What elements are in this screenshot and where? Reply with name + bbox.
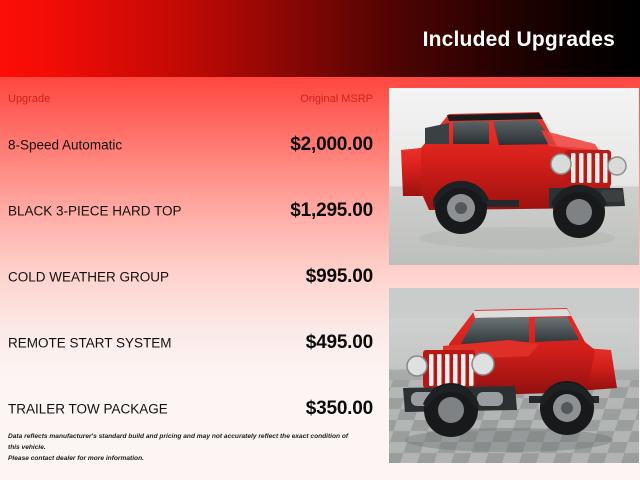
disclaimer-line-2: Please contact dealer for more informati…	[8, 454, 358, 465]
vehicle-photo-front-angle[interactable]	[389, 288, 639, 463]
upgrade-name: 8-Speed Automatic	[8, 138, 122, 153]
upgrade-price: $2,000.00	[290, 134, 373, 156]
vehicle-photo-front-quarter[interactable]	[389, 88, 639, 265]
table-row: REMOTE START SYSTEM $495.00	[0, 329, 389, 357]
upgrade-price: $495.00	[306, 332, 373, 354]
header-banner: Included Upgrades	[0, 0, 640, 77]
upgrades-page: Included Upgrades Upgrade Original MSRP …	[0, 0, 640, 480]
column-header-upgrade: Upgrade	[8, 93, 50, 105]
table-row: 8-Speed Automatic $2,000.00	[0, 131, 389, 159]
upgrade-price: $1,295.00	[290, 200, 373, 222]
table-row: TRAILER TOW PACKAGE $350.00	[0, 395, 389, 423]
table-row: COLD WEATHER GROUP $995.00	[0, 263, 389, 291]
upgrade-price: $350.00	[306, 398, 373, 420]
page-title: Included Upgrades	[423, 28, 615, 52]
upgrade-name: TRAILER TOW PACKAGE	[8, 402, 168, 417]
upgrade-price: $995.00	[306, 266, 373, 288]
disclaimer-line-1: Data reflects manufacturer's standard bu…	[8, 432, 358, 454]
upgrades-table: Upgrade Original MSRP 8-Speed Automatic …	[0, 77, 389, 480]
upgrade-name: REMOTE START SYSTEM	[8, 336, 172, 351]
table-header-row: Upgrade Original MSRP	[0, 93, 389, 113]
upgrade-name: BLACK 3-PIECE HARD TOP	[8, 204, 182, 219]
vehicle-image-1	[389, 88, 639, 265]
vehicle-image-2	[389, 288, 639, 463]
column-header-msrp: Original MSRP	[300, 93, 373, 105]
table-row: BLACK 3-PIECE HARD TOP $1,295.00	[0, 197, 389, 225]
disclaimer-text: Data reflects manufacturer's standard bu…	[8, 432, 358, 465]
upgrade-name: COLD WEATHER GROUP	[8, 270, 169, 285]
